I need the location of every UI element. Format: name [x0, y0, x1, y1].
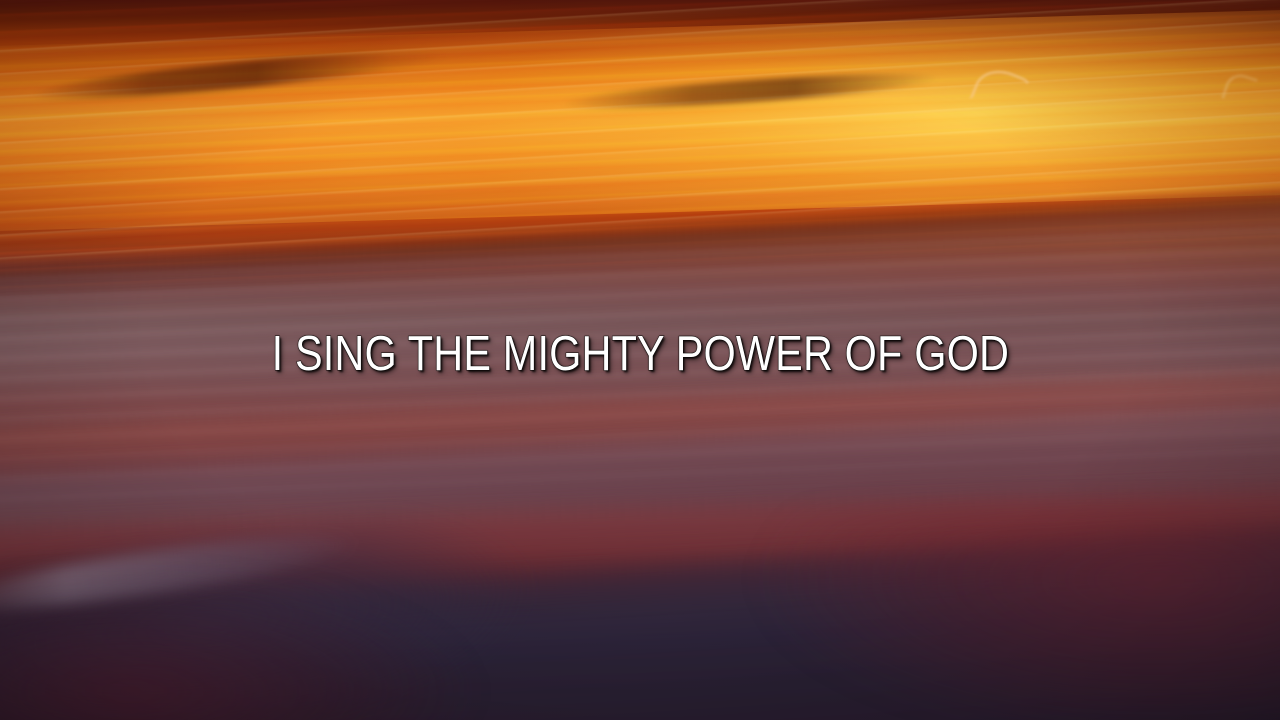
lyric-slide: I SING THE MIGHTY POWER OF GOD — [0, 0, 1280, 720]
wine-glow-bottom-right — [580, 510, 1280, 720]
wine-glow-bottom-left — [0, 570, 540, 720]
